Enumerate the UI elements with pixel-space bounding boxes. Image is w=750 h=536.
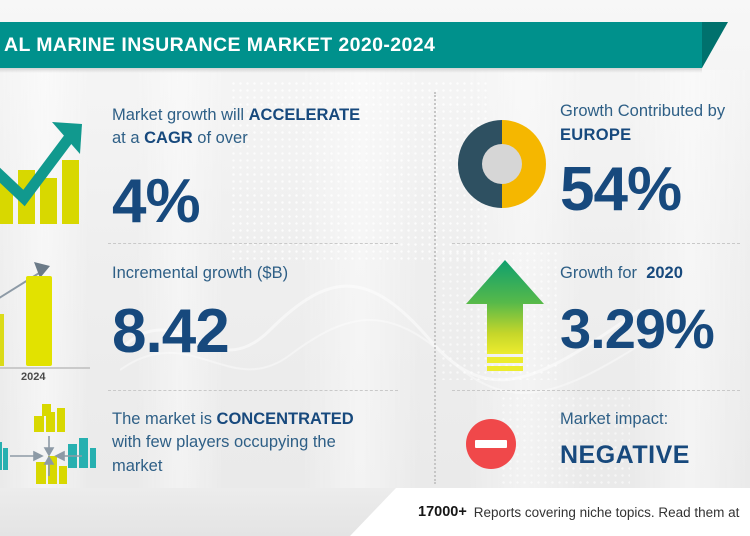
up-arrow-gradient-icon [462,258,548,376]
lb3-bold-concentrated: CONCENTRATED [217,410,354,428]
left-divider-2 [108,390,398,391]
incremental-bar-chart-icon: 9 2024 [0,252,90,382]
lb3-line3: market [112,457,162,475]
left-block-1: Market growth will ACCELERATE at a CAGR … [112,104,412,233]
market-concentration-icon [0,400,96,492]
europe-contribution-label: Growth Contributed by [560,100,750,123]
market-impact-value: NEGATIVE [560,441,750,470]
header-banner: AL MARINE INSURANCE MARKET 2020-2024 [0,22,702,68]
left-divider-1 [108,243,398,244]
rb2-lead: Growth for [560,264,637,282]
concentration-text: The market is CONCENTRATED with few play… [112,408,412,478]
lb1-mid: at a [112,129,144,147]
europe-share-value: 54% [560,159,750,221]
lb3-lead: The market is [112,410,217,428]
banner-drop-shadow [0,68,702,73]
right-divider-1 [452,243,740,244]
negative-minus-icon [462,415,520,473]
donut-chart-icon [455,117,549,211]
lb1-bold-cagr: CAGR [144,129,193,147]
banner-fold-corner [702,22,728,68]
growth-2020-value: 3.29% [560,301,750,357]
column-divider [434,92,436,484]
right-block-2: Growth for 2020 3.29% [560,262,750,357]
growth-arrow-bars-icon [0,112,90,232]
market-impact-label: Market impact: [560,408,750,431]
right-block-3: Market impact: NEGATIVE [560,408,750,470]
lb1-bold-accelerate: ACCELERATE [249,106,361,124]
left-block-1-text: Market growth will ACCELERATE at a CAGR … [112,104,412,151]
growth-year-label: Growth for 2020 [560,262,750,285]
rb2-year: 2020 [646,264,683,282]
right-divider-2 [452,390,740,391]
reports-tagline: Reports covering niche topics. Read them… [474,505,740,520]
right-block-1: Growth Contributed by EUROPE 54% [560,100,750,221]
svg-text:2024: 2024 [21,371,46,382]
lb3-line2: with few players occupying the [112,433,336,451]
incremental-growth-label: Incremental growth ($B) [112,262,412,285]
incremental-growth-value: 8.42 [112,301,412,363]
footer-bar: 17000+ Reports covering niche topics. Re… [0,488,750,536]
infographic-root: AL MARINE INSURANCE MARKET 2020-2024 Mar… [0,0,750,536]
page-title: AL MARINE INSURANCE MARKET 2020-2024 [4,34,435,57]
lb1-tail: of over [193,129,248,147]
lb1-lead: Market growth will [112,106,249,124]
footer-content: 17000+ Reports covering niche topics. Re… [350,488,750,536]
left-block-2: Incremental growth ($B) 8.42 [112,262,412,363]
left-block-3: The market is CONCENTRATED with few play… [112,408,412,478]
europe-region-name: EUROPE [560,126,750,145]
reports-count: 17000+ [418,504,467,520]
cagr-value: 4% [112,171,412,233]
